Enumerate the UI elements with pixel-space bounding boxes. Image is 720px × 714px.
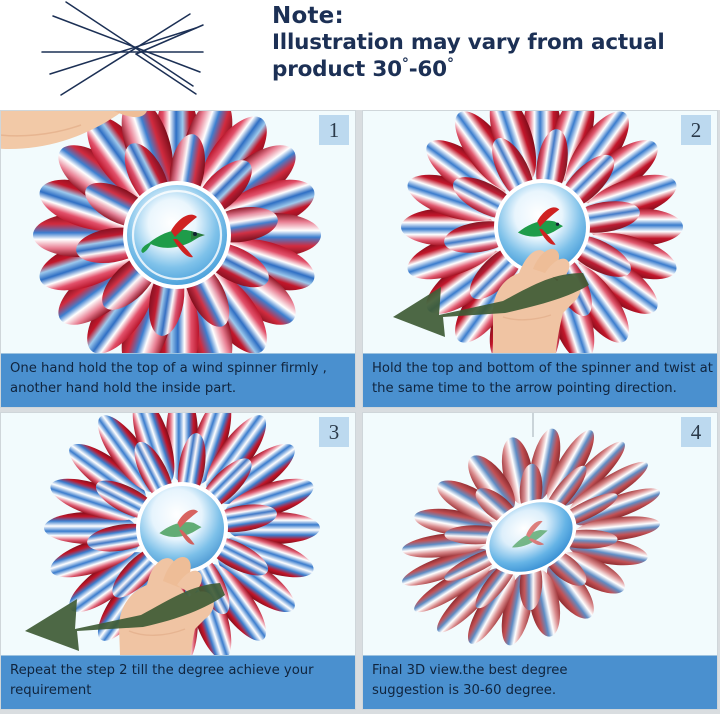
panel-step-one: 1 One hand hold the top of a wind spinne… (0, 110, 356, 408)
caption-step-one: One hand hold the top of a wind spinner … (1, 353, 355, 407)
note-line-2: product 30°-60° (272, 56, 702, 83)
caption-line-2: suggestion is 30-60 degree. (372, 681, 709, 701)
caption-line-1: Repeat the step 2 till the degree achiev… (10, 661, 347, 681)
caption-line-1: Hold the top and bottom of the spinner a… (372, 359, 709, 379)
panel-three-stage (1, 413, 355, 655)
hand-holding-top (1, 111, 187, 225)
caption-step-two: Hold the top and bottom of the spinner a… (363, 353, 717, 407)
panel-one-stage (1, 111, 355, 353)
instruction-panel-grid: 1 One hand hold the top of a wind spinne… (0, 110, 720, 714)
note-line-1: Illustration may vary from actual (272, 30, 702, 56)
note-product-label: product 30 (272, 57, 402, 82)
step-badge-4: 4 (681, 417, 711, 447)
caption-line-1: One hand hold the top of a wind spinner … (10, 359, 347, 379)
step-badge-1: 1 (319, 115, 349, 145)
note-header: Note: Illustration may vary from actual … (0, 0, 720, 110)
note-title: Note: (272, 2, 702, 30)
degree-symbol-2: ° (447, 56, 454, 72)
caption-step-four: Final 3D view.the best degree suggestion… (363, 655, 717, 709)
twist-direction-arrow-icon (15, 581, 230, 653)
note-text-block: Note: Illustration may vary from actual … (272, 2, 702, 84)
step-badge-3: 3 (319, 417, 349, 447)
caption-line-2: another hand hold the inside part. (10, 379, 347, 399)
radiating-lines-icon (28, 0, 258, 108)
twist-direction-arrow-icon (383, 271, 593, 341)
panel-step-three: 3 Repeat the step 2 till the degree achi… (0, 412, 356, 710)
panel-four-stage (363, 413, 717, 655)
panel-step-two: 2 Hold the top and bottom of the spinner… (362, 110, 718, 408)
panel-two-stage (363, 111, 717, 353)
wind-spinner-hanging-3d (381, 413, 701, 655)
caption-line-1: Final 3D view.the best degree (372, 661, 709, 681)
panel-step-four: 4 Final 3D view.the best degree suggesti… (362, 412, 718, 710)
note-degree-range: -60 (409, 57, 447, 82)
degree-symbol-1: ° (402, 56, 409, 72)
caption-line-2: the same time to the arrow pointing dire… (372, 379, 709, 399)
step-badge-2: 2 (681, 115, 711, 145)
caption-line-2: requirement (10, 681, 347, 701)
caption-step-three: Repeat the step 2 till the degree achiev… (1, 655, 355, 709)
